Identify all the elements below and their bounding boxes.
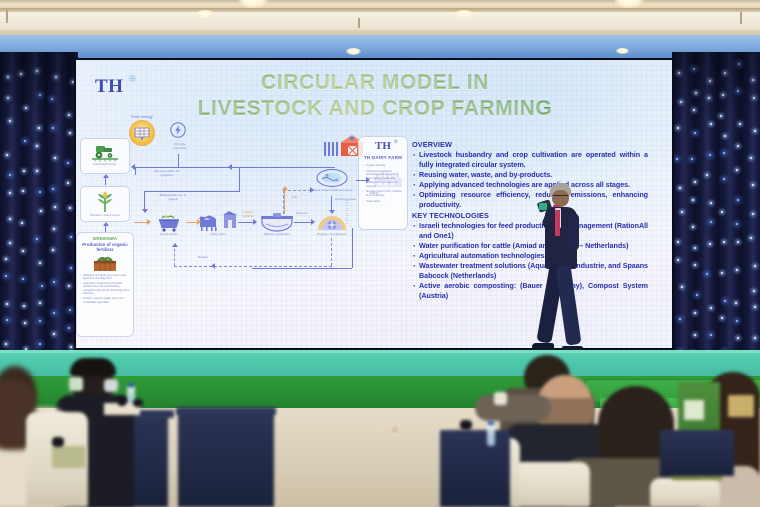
led-light (737, 241, 739, 243)
led-light (710, 334, 712, 336)
chair (650, 478, 720, 507)
led-light (723, 152, 725, 154)
speaker-presenter (528, 183, 592, 370)
arrow-left-icon (211, 263, 215, 269)
desk-items (52, 446, 86, 468)
side-table (660, 430, 734, 476)
led-light (36, 170, 38, 172)
led-light (737, 337, 739, 339)
led-light (736, 269, 738, 271)
led-light (70, 346, 72, 348)
led-light (737, 145, 739, 147)
led-light (709, 80, 711, 82)
circular-model-diagram: Solar energy Provide electricity (78, 116, 408, 346)
led-light (710, 307, 712, 309)
ceiling-hook (740, 12, 742, 24)
led-light (724, 300, 726, 302)
node-feed-center: Feed center (150, 214, 188, 237)
arrow-right-icon (310, 187, 314, 193)
led-light (680, 101, 682, 103)
solar-energy-label: Solar energy (122, 115, 162, 119)
led-light (39, 320, 41, 322)
led-light (694, 264, 696, 266)
connector-bottom-up (174, 244, 175, 266)
ceiling-panel (0, 12, 760, 32)
solar-panel-icon (129, 120, 155, 146)
presentation-scene: TH ❊ CIRCULAR MODEL IN LIVESTOCK AND CRO… (0, 0, 760, 507)
node-feed-and-crops: Feed and crops (80, 138, 130, 174)
led-light (9, 192, 11, 194)
leaf-mark-icon: ❊ (128, 74, 136, 85)
head-table-center (178, 411, 274, 507)
led-light (676, 158, 678, 160)
led-light (69, 207, 71, 209)
arrow-right-icon (311, 219, 315, 225)
led-light (5, 258, 7, 260)
audience-face-mask (104, 379, 118, 392)
led-light (691, 158, 693, 160)
led-light (752, 184, 754, 186)
led-light (724, 72, 726, 74)
led-light (723, 178, 725, 180)
led-light (24, 322, 26, 324)
led-light (721, 317, 723, 319)
led-light (9, 242, 11, 244)
separator-icon (259, 213, 295, 232)
connector-second-bus (144, 191, 239, 192)
farm-card-brand-text: TH (375, 140, 391, 152)
farm-card-bullet-list: Organic farming Advanced automation tech… (363, 164, 403, 206)
led-light (36, 145, 38, 147)
led-light (9, 120, 11, 122)
led-light (709, 243, 711, 245)
led-light (737, 90, 739, 92)
led-light (55, 76, 57, 78)
connector-separator-to-biogas (294, 222, 312, 223)
greenma-bullet: Application of advanced microbial soluti… (80, 282, 130, 296)
led-light (39, 302, 41, 304)
connector-farm-to-separator (238, 222, 254, 223)
led-light (52, 188, 54, 190)
led-light (694, 132, 696, 134)
connector-bottom-return (174, 266, 332, 267)
brand-logo-text: TH (95, 76, 123, 97)
led-light (681, 286, 683, 288)
led-light (51, 98, 53, 100)
greenma-bullet: Utilization of organic cow manure and li… (80, 274, 130, 281)
slide-title: CIRCULAR MODEL IN LIVESTOCK AND CROP FAR… (180, 70, 570, 121)
water-treatment-icon (315, 168, 349, 188)
microphone-stand (118, 397, 126, 406)
led-light (709, 154, 711, 156)
led-light (736, 223, 738, 225)
node-label: Dairy farm (196, 233, 240, 237)
overview-bullet: Livestock husbandry and crop cultivation… (412, 150, 648, 169)
led-light (694, 181, 696, 183)
led-light (39, 94, 41, 96)
speaker-leg-front (556, 264, 582, 345)
arrow-down-icon (142, 209, 148, 213)
head-table-right (440, 430, 510, 507)
node-manure-separator: Manure separator (254, 213, 300, 237)
led-light (752, 79, 754, 81)
diagram-side-axis-label: │ │ │ │ │ │ │ │ │ │ (346, 200, 349, 224)
led-light (692, 199, 694, 201)
lightning-bolt-icon (170, 122, 186, 142)
greenma-brand: GREENMA (93, 236, 118, 241)
upper-wall-band (0, 35, 760, 58)
led-light (693, 68, 695, 70)
led-light (23, 305, 25, 307)
arrow-up-icon (172, 243, 178, 247)
led-light (754, 130, 756, 132)
led-light (40, 210, 42, 212)
led-light (694, 334, 696, 336)
feed-mixer-icon (155, 214, 183, 232)
connector-water-dash (283, 190, 311, 191)
led-light (70, 236, 72, 238)
connector-biogas-down (331, 238, 332, 266)
led-light (678, 72, 680, 74)
farm-card-bullet: Organic farming (363, 164, 403, 168)
flow-label-solids: Solids (364, 192, 384, 196)
led-light (68, 327, 70, 329)
wristwatch (494, 392, 507, 405)
th-dairy-farm-card: TH❊ TH DAIRY FARM Organic farming Advanc… (358, 136, 408, 230)
signage-qr-code (684, 400, 704, 420)
led-light (20, 73, 22, 75)
arrow-right-icon (147, 219, 151, 225)
led-light (25, 107, 27, 109)
led-light (750, 157, 752, 159)
led-light (39, 262, 41, 264)
led-light (53, 281, 55, 283)
desk-items (69, 377, 83, 391)
led-light (52, 127, 54, 129)
led-light (750, 237, 752, 239)
node-label: Pasture / feed crops (81, 214, 129, 218)
flow-label-biodegrade: Biodegrade use in grains (156, 194, 190, 202)
node-label: Manure separator (254, 233, 300, 237)
slide-brand-logo: TH ❊ (95, 77, 123, 97)
bottle-cap (128, 383, 134, 387)
microphone-logo (539, 203, 547, 210)
led-light (6, 319, 8, 321)
connector-second-bus-left (144, 191, 145, 211)
ceiling-light (455, 10, 473, 18)
led-light (754, 337, 756, 339)
led-light (735, 302, 737, 304)
stage-riser-edge (0, 350, 760, 353)
arrow-right-icon (366, 177, 370, 183)
led-light (692, 226, 694, 228)
led-light (54, 157, 56, 159)
flow-label-biogas: Biogas (190, 256, 216, 260)
led-light (9, 174, 11, 176)
overview-heading: OVERVIEW (412, 140, 648, 149)
arrow-up-icon (103, 174, 109, 178)
greenma-bullet: Product: superior-quality green and sust… (80, 297, 130, 304)
arrow-up-icon (282, 186, 288, 190)
led-light (39, 343, 41, 345)
led-light (754, 306, 756, 308)
led-light (23, 170, 25, 172)
led-light (710, 202, 712, 204)
led-light (739, 123, 741, 125)
node-label: Biogas / biodigester (310, 233, 354, 237)
ceiling-light (196, 10, 214, 18)
led-light (694, 247, 696, 249)
connector-milk-riser (284, 188, 285, 214)
bottle-cap (488, 421, 494, 425)
led-light (22, 250, 24, 252)
led-light (696, 294, 698, 296)
connector-pasture-to-feedcenter (134, 222, 148, 223)
audience-arm (475, 395, 551, 421)
node-dairy-farm: Dairy farm (196, 210, 240, 237)
led-light (53, 228, 55, 230)
speaker-tie-front (555, 210, 560, 236)
signage-banner (728, 395, 754, 417)
farm-card-name: TH DAIRY FARM (364, 155, 402, 161)
led-light (53, 333, 55, 335)
led-light (754, 265, 756, 267)
led-light (753, 97, 755, 99)
arrow-left-icon (228, 164, 232, 170)
flow-label-recycle-water: Recycle water for irrigation (150, 170, 184, 178)
cow-barn-icon (198, 210, 238, 232)
led-light (723, 241, 725, 243)
led-light (710, 221, 712, 223)
connector-right-bottom (252, 268, 352, 269)
provide-electricity-label: Provide electricity (168, 143, 192, 151)
led-light (22, 190, 24, 192)
led-light (736, 320, 738, 322)
led-light (5, 343, 7, 345)
tractor-icon (90, 143, 120, 162)
led-light (21, 222, 23, 224)
connector-bus-to-feed (135, 167, 136, 175)
slide-title-line1: CIRCULAR MODEL IN (180, 70, 570, 96)
led-light (6, 154, 8, 156)
led-light (677, 127, 679, 129)
led-light (706, 273, 708, 275)
led-light (5, 275, 7, 277)
led-light (38, 127, 40, 129)
led-light (679, 318, 681, 320)
chair (512, 462, 590, 507)
led-light (721, 272, 723, 274)
led-light (53, 312, 55, 314)
arrow-down-icon (329, 210, 335, 214)
led-light (54, 206, 56, 208)
ceiling-light (346, 48, 361, 55)
led-light (677, 259, 679, 261)
led-light (36, 238, 38, 240)
led-light (706, 174, 708, 176)
led-light (679, 187, 681, 189)
led-light (68, 114, 70, 116)
led-light (681, 211, 683, 213)
led-light (720, 115, 722, 117)
greenma-title: Production of organic fertilizer (80, 242, 130, 253)
led-light (695, 92, 697, 94)
compost-crate-icon (92, 255, 118, 272)
flow-label-milk: Milk (288, 196, 302, 200)
biogas-dome-icon (316, 212, 348, 232)
led-light (721, 211, 723, 213)
speaker-arm-right (568, 213, 579, 251)
led-light (736, 169, 738, 171)
led-light (9, 218, 11, 220)
led-light (24, 140, 26, 142)
leaf-mark-icon: ❊ (394, 140, 398, 145)
connector-right-riser (352, 228, 353, 268)
node-label: Feed and crops (81, 163, 129, 167)
led-light (41, 285, 43, 287)
microphone-stand (133, 399, 143, 407)
led-light (69, 132, 71, 134)
ceiling-hook (6, 10, 8, 23)
led-light (722, 94, 724, 96)
arrow-right-icon (253, 219, 257, 225)
led-light (710, 123, 712, 125)
flow-label-organic-fertilizer: Organic fertilizer (238, 211, 258, 219)
led-light (39, 191, 41, 193)
speaker-glasses-icon (553, 195, 568, 198)
led-light (677, 241, 679, 243)
audience-hat-icon (70, 358, 116, 376)
connector-second-bus-down (239, 167, 240, 192)
farm-card-bullet: Total output (363, 200, 403, 204)
led-light (724, 135, 726, 137)
led-light (753, 290, 755, 292)
ceiling-light (616, 48, 629, 54)
greenma-bullet-list: Utilization of organic cow manure and li… (80, 274, 130, 306)
led-light (22, 278, 24, 280)
led-light (693, 109, 695, 111)
led-light (7, 97, 9, 99)
led-light (69, 309, 71, 311)
connector-solar-down (178, 154, 179, 167)
corn-plant-icon (93, 191, 117, 213)
led-light (67, 182, 69, 184)
node-label: Feed center (150, 233, 188, 237)
solar-panel-glyph (134, 127, 150, 140)
led-light (694, 312, 696, 314)
water-bottle (487, 424, 495, 446)
ceiling-hook (358, 18, 360, 28)
arrow-right-icon (197, 219, 201, 225)
node-pasture-feed-crops: Pasture / feed crops (80, 186, 130, 222)
led-light (70, 267, 72, 269)
led-light (52, 249, 54, 251)
led-light (36, 70, 38, 72)
led-light (752, 213, 754, 215)
led-light (67, 162, 69, 164)
led-light (6, 303, 8, 305)
arrow-up-icon (103, 222, 109, 226)
overview-bullet: Reusing water, waste, and by-products. (412, 170, 648, 180)
led-light (68, 285, 70, 287)
led-light (7, 76, 9, 78)
led-light (737, 199, 739, 201)
flow-label-manure: Manure (292, 212, 312, 216)
greenma-card: GREENMA Production of organic fertilizer… (76, 232, 134, 337)
table-top-center (176, 407, 276, 415)
microphone-stand (52, 437, 64, 447)
led-light (708, 97, 710, 99)
farm-card-brand: TH❊ (375, 141, 391, 152)
led-light (738, 63, 740, 65)
microphone-stand (460, 420, 472, 430)
